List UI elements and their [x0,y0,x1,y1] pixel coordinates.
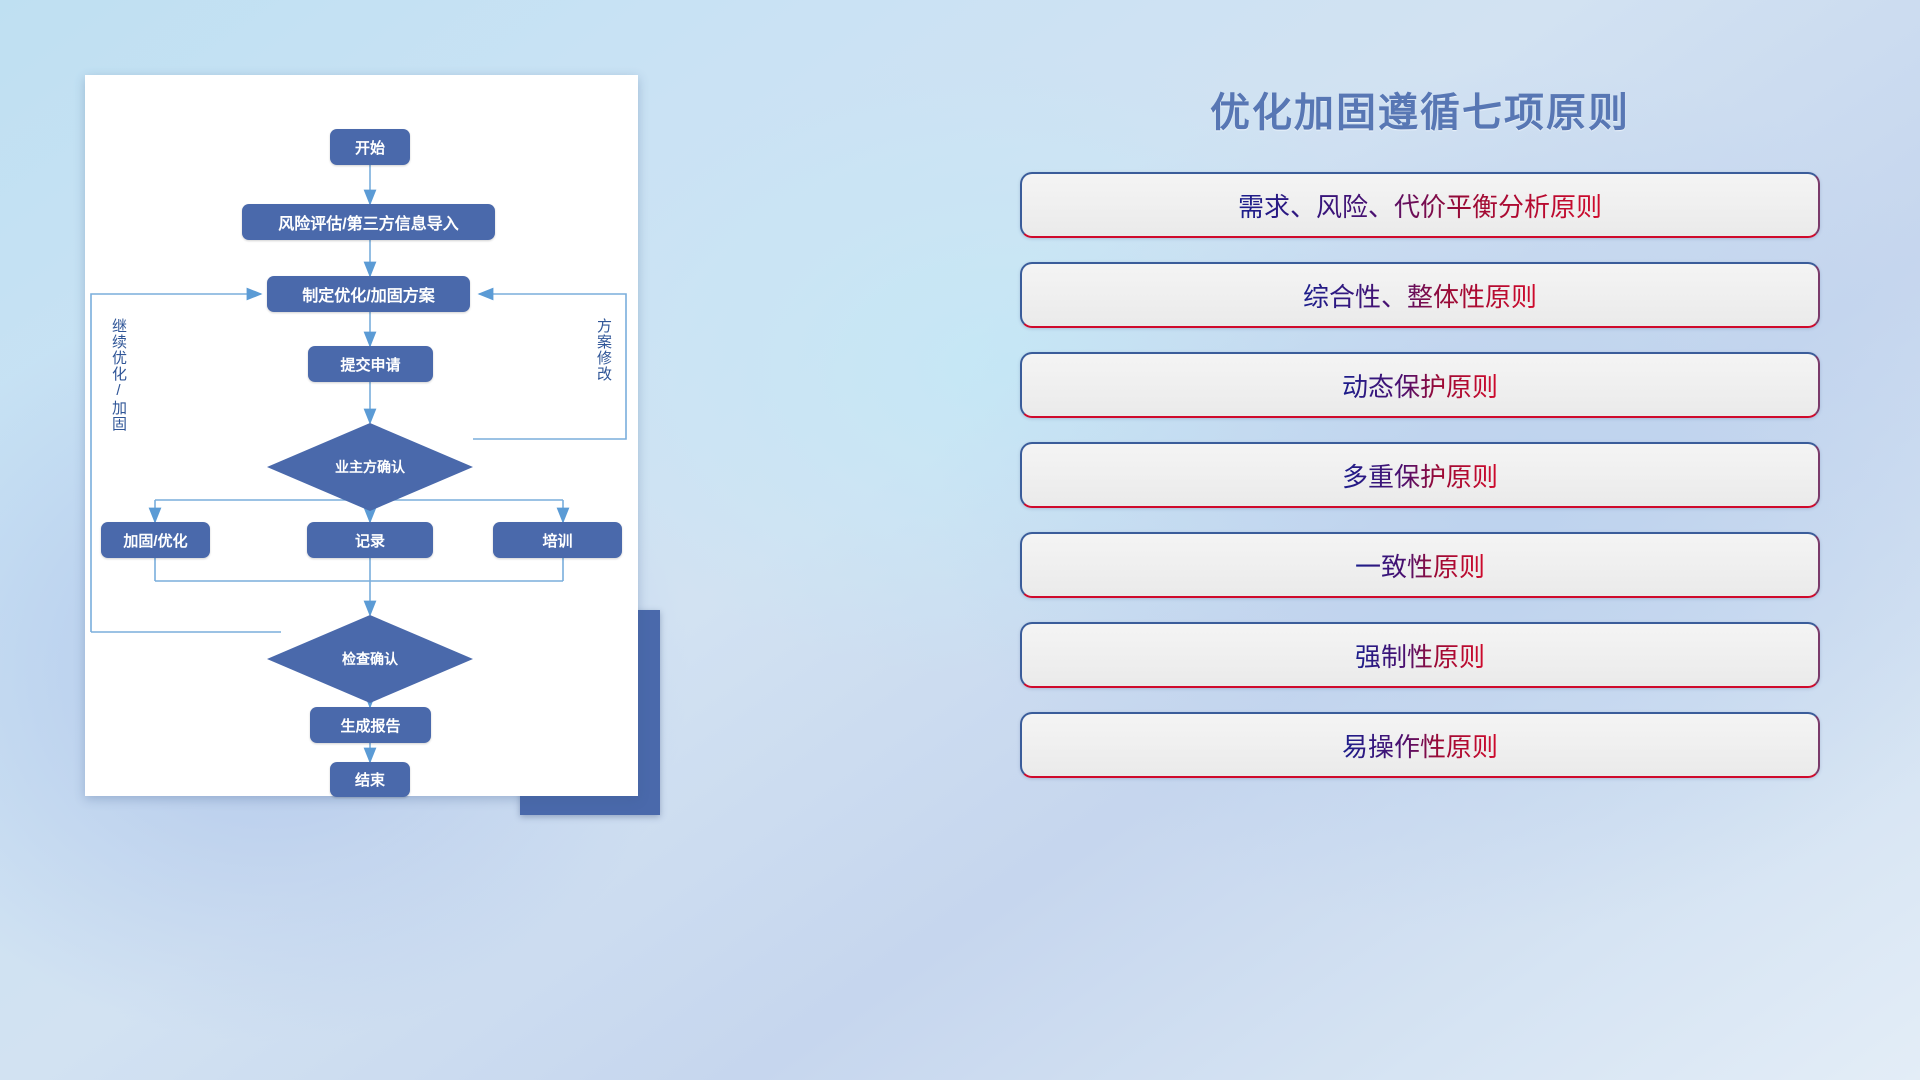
flow-node-risk-assessment[interactable]: 风险评估/第三方信息导入 [242,204,495,240]
principle-card[interactable]: 多重保护原则 [1020,442,1820,508]
flow-node-label: 开始 [355,137,385,158]
flow-node-label: 提交申请 [340,354,400,375]
edge-label-plan-revision: 方案修改 [596,318,611,382]
principles-panel: 优化加固遵循七项原则 需求、风险、代价平衡分析原则 综合性、整体性原则 动态保护… [1020,80,1820,1010]
flowchart-panel: 开始 风险评估/第三方信息导入 制定优化/加固方案 提交申请 业主方确认 加固/… [85,75,660,815]
edge-label-continue-optimize: 继续优化/加固 [111,318,126,432]
principle-card[interactable]: 一致性原则 [1020,532,1820,598]
flow-node-report[interactable]: 生成报告 [310,707,431,743]
flow-node-label: 结束 [355,769,385,790]
principle-label: 综合性、整体性原则 [1303,277,1537,314]
principle-label: 动态保护原则 [1342,367,1498,404]
flow-node-label: 风险评估/第三方信息导入 [278,210,458,234]
flow-node-label: 加固/优化 [123,530,187,551]
flow-node-label: 记录 [355,530,385,551]
flow-node-label: 培训 [542,530,572,551]
principle-label: 强制性原则 [1355,637,1485,674]
flow-node-label: 业主方确认 [335,457,405,477]
principle-card[interactable]: 动态保护原则 [1020,352,1820,418]
principle-label: 需求、风险、代价平衡分析原则 [1238,187,1602,224]
flow-node-start[interactable]: 开始 [330,129,410,165]
principle-label: 易操作性原则 [1342,727,1498,764]
principle-card[interactable]: 强制性原则 [1020,622,1820,688]
flow-node-label: 检查确认 [342,649,398,669]
flow-node-training[interactable]: 培训 [493,522,622,558]
principle-card[interactable]: 综合性、整体性原则 [1020,262,1820,328]
flow-node-plan[interactable]: 制定优化/加固方案 [267,276,470,312]
flow-node-reinforce[interactable]: 加固/优化 [101,522,210,558]
flow-node-owner-confirm[interactable]: 业主方确认 [267,423,473,511]
flow-node-end[interactable]: 结束 [330,762,410,797]
principles-title: 优化加固遵循七项原则 [1020,80,1820,138]
flow-node-submit[interactable]: 提交申请 [308,346,433,382]
principle-card[interactable]: 易操作性原则 [1020,712,1820,778]
flow-node-check-confirm[interactable]: 检查确认 [267,615,473,703]
flowchart-card: 开始 风险评估/第三方信息导入 制定优化/加固方案 提交申请 业主方确认 加固/… [85,75,638,796]
principle-card[interactable]: 需求、风险、代价平衡分析原则 [1020,172,1820,238]
principle-label: 一致性原则 [1355,547,1485,584]
flow-node-record[interactable]: 记录 [307,522,433,558]
flow-node-label: 制定优化/加固方案 [302,282,434,306]
flow-node-label: 生成报告 [340,715,400,736]
principle-label: 多重保护原则 [1342,457,1498,494]
